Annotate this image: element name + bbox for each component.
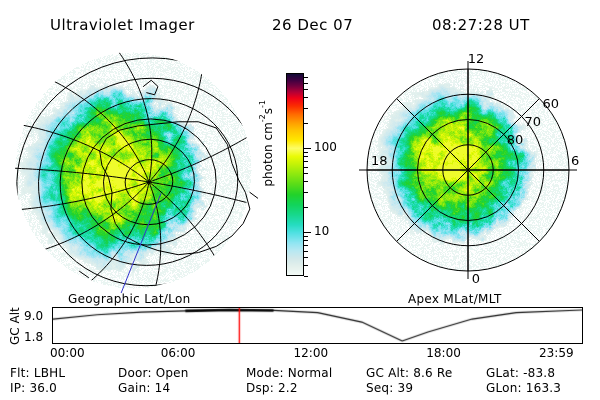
geographic-aurora-plot xyxy=(8,43,258,293)
status-field-value: 163.3 xyxy=(526,381,561,395)
instrument-title: Ultraviolet Imager xyxy=(50,16,195,34)
status-field-value: 8.6 Re xyxy=(413,366,452,380)
status-field: Mode: Normal xyxy=(246,366,332,380)
status-field: Gain: 14 xyxy=(118,381,170,395)
status-field-key: Seq: xyxy=(366,381,397,395)
status-field-key: GLon: xyxy=(486,381,526,395)
status-field-value: -83.8 xyxy=(523,366,555,380)
status-field: IP: 36.0 xyxy=(10,381,57,395)
status-field: Dsp: 2.2 xyxy=(246,381,298,395)
status-field: Flt: LBHL xyxy=(10,366,65,380)
colorbar-axis-title: photon cm-2s-1 xyxy=(258,100,278,187)
altitude-axis-label: GC Alt xyxy=(8,300,24,352)
status-field: GLon: 163.3 xyxy=(486,381,561,395)
status-field-key: Gain: xyxy=(118,381,155,395)
status-field-value: LBHL xyxy=(34,366,65,380)
status-field-key: Dsp: xyxy=(246,381,278,395)
altitude-ytick-max: 9.0 xyxy=(24,309,43,323)
colorbar-units-exp2: -1 xyxy=(258,100,267,108)
status-field-key: Mode: xyxy=(246,366,288,380)
intensity-colorbar: 10010 xyxy=(286,73,304,276)
colorbar-units-exp1: -2 xyxy=(258,114,267,122)
status-field: GC Alt: 8.6 Re xyxy=(366,366,452,380)
altitude-xtick-label: 18:00 xyxy=(426,346,461,360)
altitude-trace-canvas xyxy=(53,308,582,343)
status-field-value: 14 xyxy=(155,381,171,395)
left-plot-caption: Geographic Lat/Lon xyxy=(68,292,191,306)
status-field-key: GC Alt: xyxy=(366,366,413,380)
colorbar-units-main: photon cm xyxy=(261,122,275,186)
status-field-value: 39 xyxy=(397,381,413,395)
uvi-summary-page: Ultraviolet Imager 26 Dec 07 08:27:28 UT… xyxy=(0,0,600,400)
colorbar-tick-label: 10 xyxy=(314,224,329,238)
status-field-key: Door: xyxy=(118,366,156,380)
status-field-key: Flt: xyxy=(10,366,34,380)
status-field-key: IP: xyxy=(10,381,29,395)
colorbar-ticks xyxy=(304,73,312,276)
altitude-ytick-min: 1.8 xyxy=(24,330,43,344)
status-field: GLat: -83.8 xyxy=(486,366,555,380)
status-field-key: GLat: xyxy=(486,366,523,380)
colorbar-tick-label: 100 xyxy=(314,140,337,154)
observation-date: 26 Dec 07 xyxy=(272,16,353,34)
status-field-value: Open xyxy=(156,366,189,380)
status-field: Seq: 39 xyxy=(366,381,413,395)
header-bar: Ultraviolet Imager 26 Dec 07 08:27:28 UT xyxy=(0,8,600,34)
altitude-plot-box xyxy=(52,307,583,344)
status-field-value: 2.2 xyxy=(278,381,298,395)
status-field-value: 36.0 xyxy=(29,381,57,395)
right-plot-caption: Apex MLat/MLT xyxy=(408,292,502,306)
altitude-xtick-label: 06:00 xyxy=(161,346,196,360)
altitude-xtick-label: 00:00 xyxy=(50,346,85,360)
apex-magnetic-aurora-plot xyxy=(343,43,593,293)
altitude-xtick-label: 23:59 xyxy=(539,346,574,360)
colorbar-gradient xyxy=(286,73,304,276)
status-field: Door: Open xyxy=(118,366,189,380)
observation-time: 08:27:28 UT xyxy=(432,16,530,34)
altitude-xtick-label: 12:00 xyxy=(294,346,329,360)
colorbar-units-mid: s xyxy=(261,108,275,114)
status-field-value: Normal xyxy=(288,366,333,380)
